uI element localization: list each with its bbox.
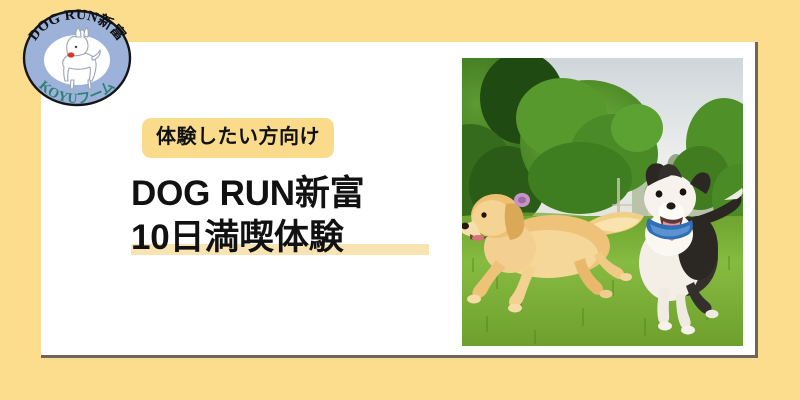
page-title: DOG RUN新富 10日満喫体験	[131, 172, 431, 260]
target-audience-badge: 体験したい方向け	[142, 118, 334, 158]
promo-banner: 体験したい方向け DOG RUN新富 10日満喫体験	[0, 0, 800, 400]
two-dogs-running-on-grass-photo	[462, 58, 743, 346]
promo-text-block: 体験したい方向け DOG RUN新富 10日満喫体験	[131, 118, 431, 260]
headline-line-2-text: 10日満喫体験	[131, 218, 344, 257]
dog-run-shintomi-logo[interactable]: DOG RUN新富 KOYUフーム	[14, 3, 140, 107]
headline-line-2: 10日満喫体験	[131, 216, 431, 260]
headline-line-1: DOG RUN新富	[131, 172, 431, 216]
headline-line-1-text: DOG RUN新富	[131, 174, 364, 213]
